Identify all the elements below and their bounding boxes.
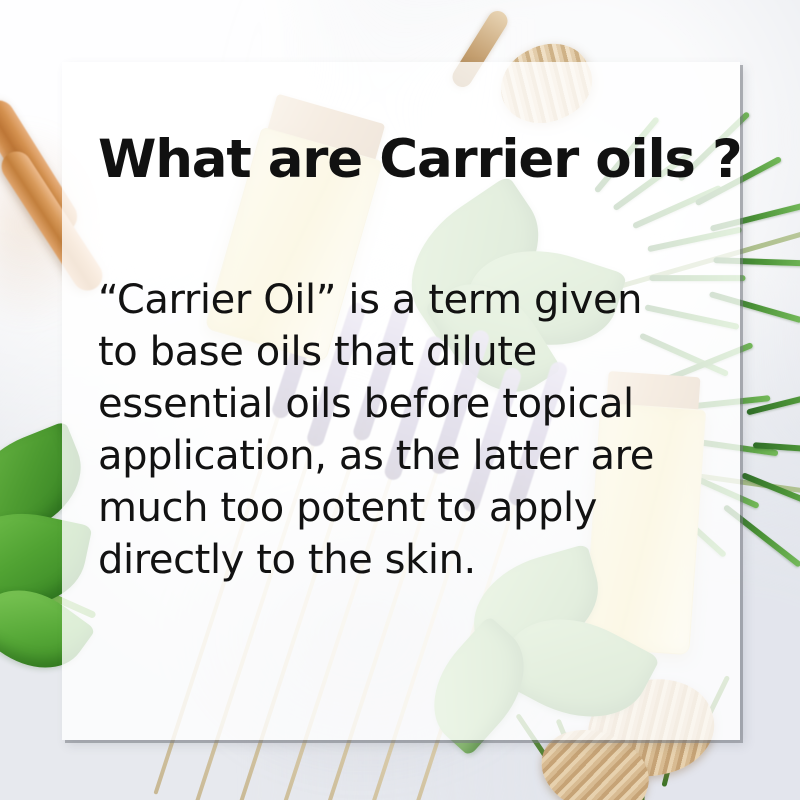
rosemary-needle [741,472,800,514]
body-line: “Carrier Oil” is a term given [98,274,692,326]
infographic-card: What are Carrier oils ? “Carrier Oil” is… [0,0,800,800]
page-title: What are Carrier oils ? [98,132,692,188]
body-line: much too potent to apply [98,482,692,534]
body-line: application, as the latter are [98,430,692,482]
body-line: to base oils that dilute [98,326,692,378]
body-copy: “Carrier Oil” is a term given to base oi… [98,274,692,586]
body-line: essential oils before topical [98,378,692,430]
content-panel: What are Carrier oils ? “Carrier Oil” is… [62,62,740,740]
body-line: directly to the skin. [98,534,692,586]
